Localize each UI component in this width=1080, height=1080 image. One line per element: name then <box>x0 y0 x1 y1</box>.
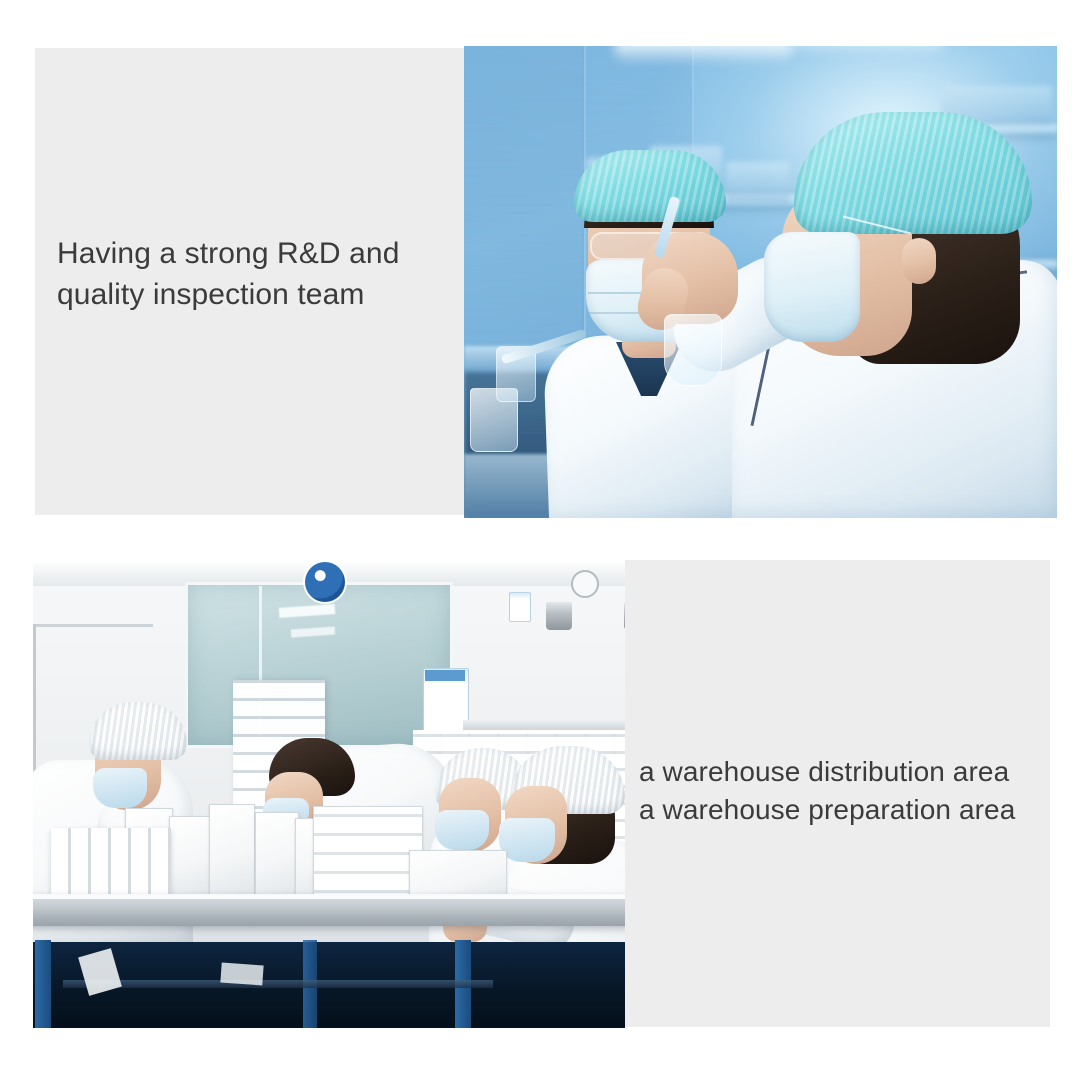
warehouse-carton-fg-b <box>169 816 213 902</box>
warehouse-steel-pot-a <box>546 602 572 630</box>
lab-tech-right-mask <box>764 232 860 342</box>
warehouse-back-counter <box>463 720 625 730</box>
lab-tech-right-hairnet <box>794 112 1032 234</box>
warehouse-floor-shelf <box>63 980 493 988</box>
lab-scene <box>464 46 1057 518</box>
lab-tech-right-ear <box>902 238 936 284</box>
warehouse-worker4-mask <box>499 818 555 862</box>
warehouse-scene <box>33 560 625 1028</box>
warehouse-table-leg-left <box>35 940 51 1028</box>
warehouse-notice-sign-header <box>425 670 465 681</box>
rnd-caption: Having a strong R&D and quality inspecti… <box>57 233 447 315</box>
warehouse-photo <box>33 560 625 1028</box>
lab-tech-left-hairnet <box>574 150 726 222</box>
warehouse-blue-logo-icon <box>305 562 345 602</box>
warehouse-worker3-mask <box>435 810 489 850</box>
lab-ceiling-light-2 <box>794 46 944 54</box>
warehouse-carton-fg-c <box>209 804 255 902</box>
warehouse-wall-clock <box>571 570 599 598</box>
lab-ceiling-light <box>614 46 794 62</box>
warehouse-paper-scrap-2 <box>220 963 263 986</box>
warehouse-worker1-mask <box>93 768 147 808</box>
lab-flask-held <box>664 314 722 386</box>
warehouse-caption: a warehouse distribution area a warehous… <box>639 753 1049 829</box>
lab-photo <box>464 46 1057 518</box>
warehouse-wall-seam <box>33 624 153 627</box>
rnd-text-panel: Having a strong R&D and quality inspecti… <box>35 48 464 515</box>
lab-equipment-c <box>726 162 790 204</box>
warehouse-small-placard <box>509 592 531 622</box>
warehouse-carton-fg-d <box>255 812 299 902</box>
warehouse-text-panel: a warehouse distribution area a warehous… <box>625 560 1050 1027</box>
warehouse-table-edge-highlight <box>33 894 625 899</box>
warehouse-table-blue-frame <box>33 924 625 944</box>
